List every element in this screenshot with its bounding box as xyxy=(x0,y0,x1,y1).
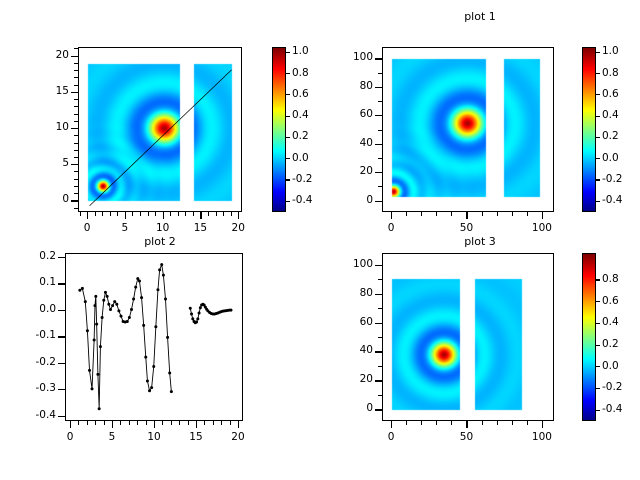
colorbar-tick-label: -0.2 xyxy=(602,381,623,393)
y-major-tick xyxy=(375,58,382,59)
y-major-tick xyxy=(375,323,382,324)
x-tick-label: 100 xyxy=(520,222,564,234)
x-major-tick xyxy=(542,421,543,428)
y-tick-label: 60 xyxy=(328,108,373,120)
x-minor-tick xyxy=(110,212,111,216)
diagonal-overlay-line xyxy=(79,48,242,212)
y-minor-tick xyxy=(378,130,382,131)
y-major-tick xyxy=(71,128,78,129)
x-minor-tick xyxy=(137,421,138,425)
colorbar-gradient-plot-3 xyxy=(583,254,596,421)
y-tick-label: 0 xyxy=(24,193,69,205)
colorbar-tick-label: 0.2 xyxy=(292,130,309,142)
colorbar-tick-label: 0.8 xyxy=(602,273,619,285)
colorbar-tick-label: -0.4 xyxy=(602,403,623,415)
colorbar-tick-label: 0.0 xyxy=(602,152,619,164)
x-minor-tick xyxy=(155,212,156,216)
y-major-tick xyxy=(58,416,65,417)
y-minor-tick xyxy=(74,77,78,78)
colorbar-tick xyxy=(596,73,600,74)
colorbar-tick xyxy=(596,179,600,180)
y-major-tick xyxy=(58,257,65,258)
colorbar-tick xyxy=(596,323,600,324)
colorbar-tick xyxy=(286,137,290,138)
x-minor-tick xyxy=(421,212,422,216)
x-minor-tick xyxy=(204,421,205,425)
colorbar-top-left xyxy=(272,47,286,212)
colorbar-tick xyxy=(286,158,290,159)
x-minor-tick xyxy=(208,212,209,216)
x-minor-tick xyxy=(148,212,149,216)
x-tick-label: 0 xyxy=(369,222,413,234)
colorbar-tick-label: -0.4 xyxy=(292,194,313,206)
colorbar-tick xyxy=(286,179,290,180)
x-tick-label: 100 xyxy=(520,431,564,443)
y-tick-label: 100 xyxy=(328,51,373,63)
x-minor-tick xyxy=(482,421,483,425)
colorbar-tick xyxy=(286,116,290,117)
x-minor-tick xyxy=(171,421,172,425)
colorbar-tick xyxy=(596,94,600,95)
x-minor-tick xyxy=(132,212,133,216)
x-minor-tick xyxy=(146,421,147,425)
y-tick-label: 0.2 xyxy=(11,250,56,262)
x-minor-tick xyxy=(406,212,407,216)
y-tick-label: -0.1 xyxy=(11,329,56,341)
colorbar-gradient-plot-1 xyxy=(583,48,596,212)
colorbar-tick xyxy=(596,388,600,389)
x-minor-tick xyxy=(178,212,179,216)
x-minor-tick xyxy=(179,421,180,425)
y-major-tick xyxy=(375,172,382,173)
x-tick-label: 0 xyxy=(369,431,413,443)
figure-canvas: 0510152005101520 -0.4-0.20.00.20.40.60.8… xyxy=(0,0,640,480)
x-minor-tick xyxy=(102,212,103,216)
colorbar-tick-label: 0.4 xyxy=(602,109,619,121)
x-tick-label: 20 xyxy=(216,222,260,234)
colorbar-tick-label: 0.4 xyxy=(292,109,309,121)
y-tick-label: 5 xyxy=(24,157,69,169)
colorbar-plot-3 xyxy=(582,253,596,421)
y-major-tick xyxy=(58,389,65,390)
x-tick-label: 50 xyxy=(444,431,488,443)
colorbar-tick xyxy=(596,301,600,302)
y-tick-label: -0.2 xyxy=(11,356,56,368)
colorbar-tick xyxy=(596,345,600,346)
y-tick-label: 15 xyxy=(24,85,69,97)
axes-plot-1 xyxy=(382,47,554,212)
subplot-title-plot-1: plot 1 xyxy=(320,10,640,23)
colorbar-tick xyxy=(286,94,290,95)
x-minor-tick xyxy=(451,421,452,425)
x-minor-tick xyxy=(162,421,163,425)
x-minor-tick xyxy=(95,212,96,216)
colorbar-tick-label: 1.0 xyxy=(292,45,309,57)
y-tick-label: 80 xyxy=(328,80,373,92)
y-minor-tick xyxy=(378,395,382,396)
x-minor-tick xyxy=(193,212,194,216)
colorbar-tick-label: 0.6 xyxy=(602,295,619,307)
x-tick-label: 5 xyxy=(90,431,134,443)
x-major-tick xyxy=(391,212,392,219)
y-major-tick xyxy=(375,201,382,202)
colorbar-tick-label: 0.8 xyxy=(602,67,619,79)
colorbar-tick-label: 0.0 xyxy=(602,360,619,372)
x-minor-tick xyxy=(140,212,141,216)
x-major-tick xyxy=(200,212,201,219)
x-minor-tick xyxy=(451,212,452,216)
colorbar-tick xyxy=(286,73,290,74)
x-minor-tick xyxy=(104,421,105,425)
x-major-tick xyxy=(70,421,71,428)
y-tick-label: 40 xyxy=(328,344,373,356)
y-minor-tick xyxy=(378,158,382,159)
axes-plot-2 xyxy=(65,253,243,421)
x-minor-tick xyxy=(527,421,528,425)
colorbar-tick xyxy=(596,52,600,53)
subplot-title-plot-3: plot 3 xyxy=(320,235,640,248)
x-major-tick xyxy=(238,421,239,428)
x-minor-tick xyxy=(185,212,186,216)
y-minor-tick xyxy=(74,208,78,209)
x-minor-tick xyxy=(87,421,88,425)
subplot-top-right: plot 1 050100020406080100 -0.4-0.20.00.2… xyxy=(320,10,640,240)
x-minor-tick xyxy=(170,212,171,216)
x-minor-tick xyxy=(436,421,437,425)
x-minor-tick xyxy=(80,212,81,216)
x-minor-tick xyxy=(406,421,407,425)
y-tick-label: 20 xyxy=(24,49,69,61)
y-tick-label: 60 xyxy=(328,316,373,328)
x-minor-tick xyxy=(120,421,121,425)
colorbar-tick-label: -0.2 xyxy=(602,173,623,185)
y-tick-label: 40 xyxy=(328,137,373,149)
x-major-tick xyxy=(112,421,113,428)
colorbar-tick xyxy=(286,201,290,202)
x-minor-tick xyxy=(221,421,222,425)
x-minor-tick xyxy=(497,212,498,216)
x-major-tick xyxy=(466,421,467,428)
y-tick-label: 0 xyxy=(328,402,373,414)
colorbar-tick-label: 0.0 xyxy=(292,152,309,164)
x-minor-tick xyxy=(230,421,231,425)
heatmap-image-plot-1 xyxy=(383,48,554,212)
y-major-tick xyxy=(58,363,65,364)
x-major-tick xyxy=(542,212,543,219)
x-minor-tick xyxy=(95,421,96,425)
x-tick-label: 20 xyxy=(216,431,260,443)
x-minor-tick xyxy=(231,212,232,216)
colorbar-tick-label: 0.2 xyxy=(602,130,619,142)
colorbar-tick-label: -0.4 xyxy=(602,194,623,206)
colorbar-tick xyxy=(596,366,600,367)
y-major-tick xyxy=(58,336,65,337)
x-minor-tick xyxy=(421,421,422,425)
heatmap-image-plot-3 xyxy=(383,254,554,421)
y-minor-tick xyxy=(74,70,78,71)
y-major-tick xyxy=(375,409,382,410)
y-major-tick xyxy=(375,294,382,295)
colorbar-tick-label: 0.8 xyxy=(292,67,309,79)
y-minor-tick xyxy=(74,186,78,187)
x-major-tick xyxy=(163,212,164,219)
y-minor-tick xyxy=(378,337,382,338)
y-minor-tick xyxy=(74,106,78,107)
line-series-plot-2 xyxy=(66,254,243,421)
colorbar-tick-label: 0.6 xyxy=(602,88,619,100)
y-minor-tick xyxy=(74,179,78,180)
y-major-tick xyxy=(71,164,78,165)
colorbar-tick xyxy=(596,201,600,202)
axes-top-left xyxy=(78,47,242,212)
x-minor-tick xyxy=(223,212,224,216)
x-minor-tick xyxy=(188,421,189,425)
colorbar-tick-label: 1.0 xyxy=(602,45,619,57)
x-tick-label: 0 xyxy=(48,431,92,443)
y-major-tick xyxy=(71,56,78,57)
y-minor-tick xyxy=(74,85,78,86)
subplot-bottom-right: plot 3 050100020406080100 -0.4-0.20.00.2… xyxy=(320,235,640,480)
y-minor-tick xyxy=(74,99,78,100)
subplot-top-left: 0510152005101520 -0.4-0.20.00.20.40.60.8… xyxy=(0,10,320,240)
y-major-tick xyxy=(375,351,382,352)
colorbar-plot-1 xyxy=(582,47,596,212)
y-tick-label: 100 xyxy=(328,258,373,270)
colorbar-tick xyxy=(596,116,600,117)
y-tick-label: 20 xyxy=(328,165,373,177)
y-tick-label: -0.3 xyxy=(11,382,56,394)
y-minor-tick xyxy=(378,73,382,74)
y-minor-tick xyxy=(378,308,382,309)
x-major-tick xyxy=(125,212,126,219)
y-minor-tick xyxy=(74,171,78,172)
subplot-title-plot-2: plot 2 xyxy=(0,235,320,248)
x-minor-tick xyxy=(78,421,79,425)
y-minor-tick xyxy=(74,135,78,136)
x-major-tick xyxy=(196,421,197,428)
colorbar-tick xyxy=(596,279,600,280)
x-minor-tick xyxy=(512,212,513,216)
x-tick-label: 50 xyxy=(444,222,488,234)
y-major-tick xyxy=(58,310,65,311)
y-major-tick xyxy=(375,380,382,381)
y-minor-tick xyxy=(378,366,382,367)
colorbar-tick-label: 0.4 xyxy=(602,316,619,328)
y-minor-tick xyxy=(74,63,78,64)
y-major-tick xyxy=(375,144,382,145)
x-tick-label: 10 xyxy=(132,431,176,443)
y-minor-tick xyxy=(74,143,78,144)
x-major-tick xyxy=(87,212,88,219)
x-major-tick xyxy=(391,421,392,428)
colorbar-gradient-top-left xyxy=(273,48,286,212)
colorbar-tick-label: 0.2 xyxy=(602,338,619,350)
y-tick-label: 0.1 xyxy=(11,276,56,288)
x-minor-tick xyxy=(129,421,130,425)
x-tick-label: 15 xyxy=(174,431,218,443)
y-major-tick xyxy=(375,265,382,266)
x-minor-tick xyxy=(527,212,528,216)
colorbar-tick xyxy=(596,410,600,411)
y-major-tick xyxy=(71,92,78,93)
x-minor-tick xyxy=(512,421,513,425)
y-minor-tick xyxy=(74,48,78,49)
x-minor-tick xyxy=(213,421,214,425)
x-minor-tick xyxy=(216,212,217,216)
y-tick-label: -0.4 xyxy=(11,409,56,421)
colorbar-tick-label: 0.6 xyxy=(292,88,309,100)
x-major-tick xyxy=(238,212,239,219)
subplot-bottom-left: plot 2 051015200.20.10.0-0.1-0.2-0.3-0.4 xyxy=(0,235,320,480)
x-major-tick xyxy=(466,212,467,219)
x-minor-tick xyxy=(436,212,437,216)
y-major-tick xyxy=(58,283,65,284)
x-minor-tick xyxy=(497,421,498,425)
y-minor-tick xyxy=(74,193,78,194)
y-minor-tick xyxy=(74,150,78,151)
y-major-tick xyxy=(375,87,382,88)
x-major-tick xyxy=(154,421,155,428)
y-tick-label: 10 xyxy=(24,121,69,133)
y-minor-tick xyxy=(378,279,382,280)
y-tick-label: 20 xyxy=(328,373,373,385)
y-tick-label: 80 xyxy=(328,287,373,299)
x-minor-tick xyxy=(482,212,483,216)
colorbar-tick xyxy=(286,52,290,53)
y-minor-tick xyxy=(378,101,382,102)
colorbar-tick xyxy=(596,137,600,138)
y-minor-tick xyxy=(74,121,78,122)
y-minor-tick xyxy=(378,186,382,187)
y-minor-tick xyxy=(74,157,78,158)
axes-plot-3 xyxy=(382,253,554,421)
y-tick-label: 0 xyxy=(328,194,373,206)
y-tick-label: 0.0 xyxy=(11,303,56,315)
y-major-tick xyxy=(375,115,382,116)
colorbar-tick xyxy=(596,158,600,159)
x-minor-tick xyxy=(117,212,118,216)
colorbar-tick-label: -0.2 xyxy=(292,173,313,185)
y-major-tick xyxy=(71,200,78,201)
y-minor-tick xyxy=(74,114,78,115)
